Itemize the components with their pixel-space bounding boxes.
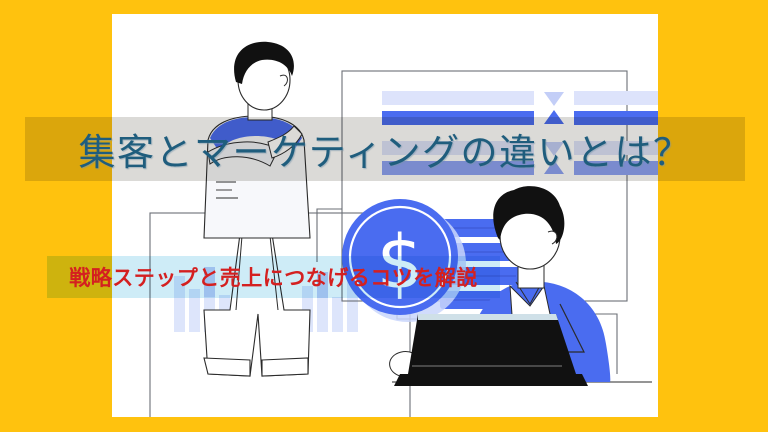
triangle-down-1 <box>544 92 564 106</box>
page-subtitle: 戦略ステップと売上につなげるコツを解説 <box>47 256 500 298</box>
dashboard-bar-light-2 <box>574 91 658 105</box>
standing-person <box>204 42 310 376</box>
slide-canvas: $ <box>0 0 768 432</box>
laptop-screen-top <box>418 314 558 320</box>
page-title: 集客とマーケティングの違いとは？ <box>25 117 745 181</box>
standing-person-shoe-right <box>262 358 308 376</box>
laptop-base <box>394 374 588 386</box>
dashboard-bar-light-1 <box>382 91 534 105</box>
illustration: $ <box>112 14 658 417</box>
content-card: $ <box>112 14 658 417</box>
standing-person-shoe-left <box>204 358 250 376</box>
laptop-screen <box>408 314 576 374</box>
